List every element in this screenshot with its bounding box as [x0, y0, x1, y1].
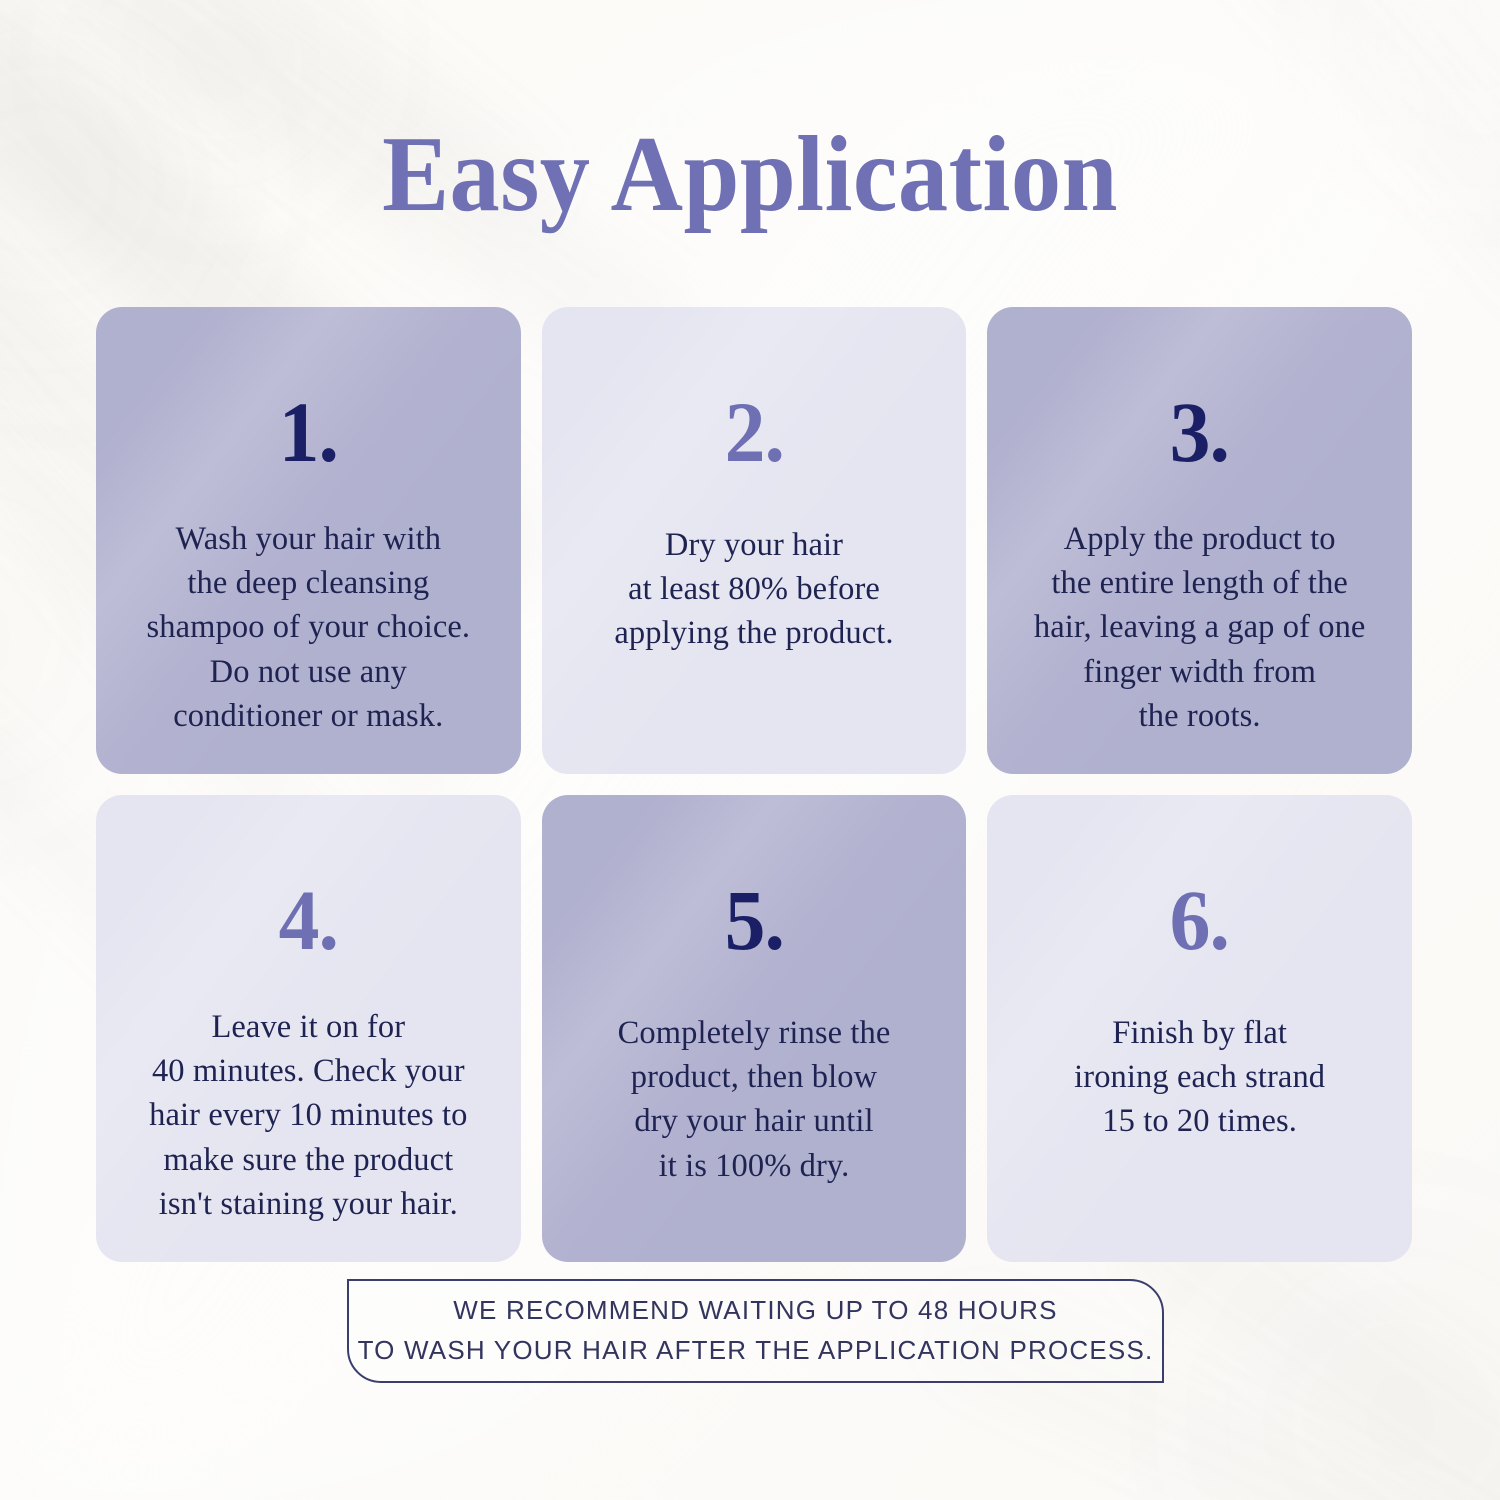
step-card-4: 4. Leave it on for 40 minutes. Check you…: [96, 795, 521, 1262]
step-text-2: Dry your hair at least 80% before applyi…: [592, 523, 915, 656]
step-text-4: Leave it on for 40 minutes. Check your h…: [127, 1005, 489, 1226]
step-text-6: Finish by flat ironing each strand 15 to…: [1052, 1011, 1347, 1144]
step-card-1: 1. Wash your hair with the deep cleansin…: [96, 307, 521, 774]
step-card-2: 2. Dry your hair at least 80% before app…: [542, 307, 967, 774]
step-text-3: Apply the product to the entire length o…: [1012, 517, 1388, 738]
step-number-6: 6.: [1170, 877, 1229, 963]
step-text-1: Wash your hair with the deep cleansing s…: [125, 517, 493, 738]
step-card-5: 5. Completely rinse the product, then bl…: [542, 795, 967, 1262]
step-number-1: 1.: [279, 389, 338, 475]
step-number-3: 3.: [1170, 389, 1229, 475]
step-number-4: 4.: [279, 877, 338, 963]
step-card-6: 6. Finish by flat ironing each strand 15…: [987, 795, 1412, 1262]
step-text-5: Completely rinse the product, then blow …: [596, 1011, 913, 1188]
infographic-page: Easy Application 1. Wash your hair with …: [0, 0, 1500, 1500]
step-card-3: 3. Apply the product to the entire lengt…: [987, 307, 1412, 774]
footer-recommendation-box: WE RECOMMEND WAITING UP TO 48 HOURS TO W…: [347, 1279, 1164, 1383]
step-number-5: 5.: [724, 877, 783, 963]
page-title: Easy Application: [53, 118, 1448, 231]
page-title-wrap: Easy Application: [0, 118, 1500, 231]
footer-recommendation-text: WE RECOMMEND WAITING UP TO 48 HOURS TO W…: [358, 1291, 1154, 1370]
step-number-2: 2.: [724, 389, 783, 475]
steps-grid: 1. Wash your hair with the deep cleansin…: [96, 307, 1412, 1262]
